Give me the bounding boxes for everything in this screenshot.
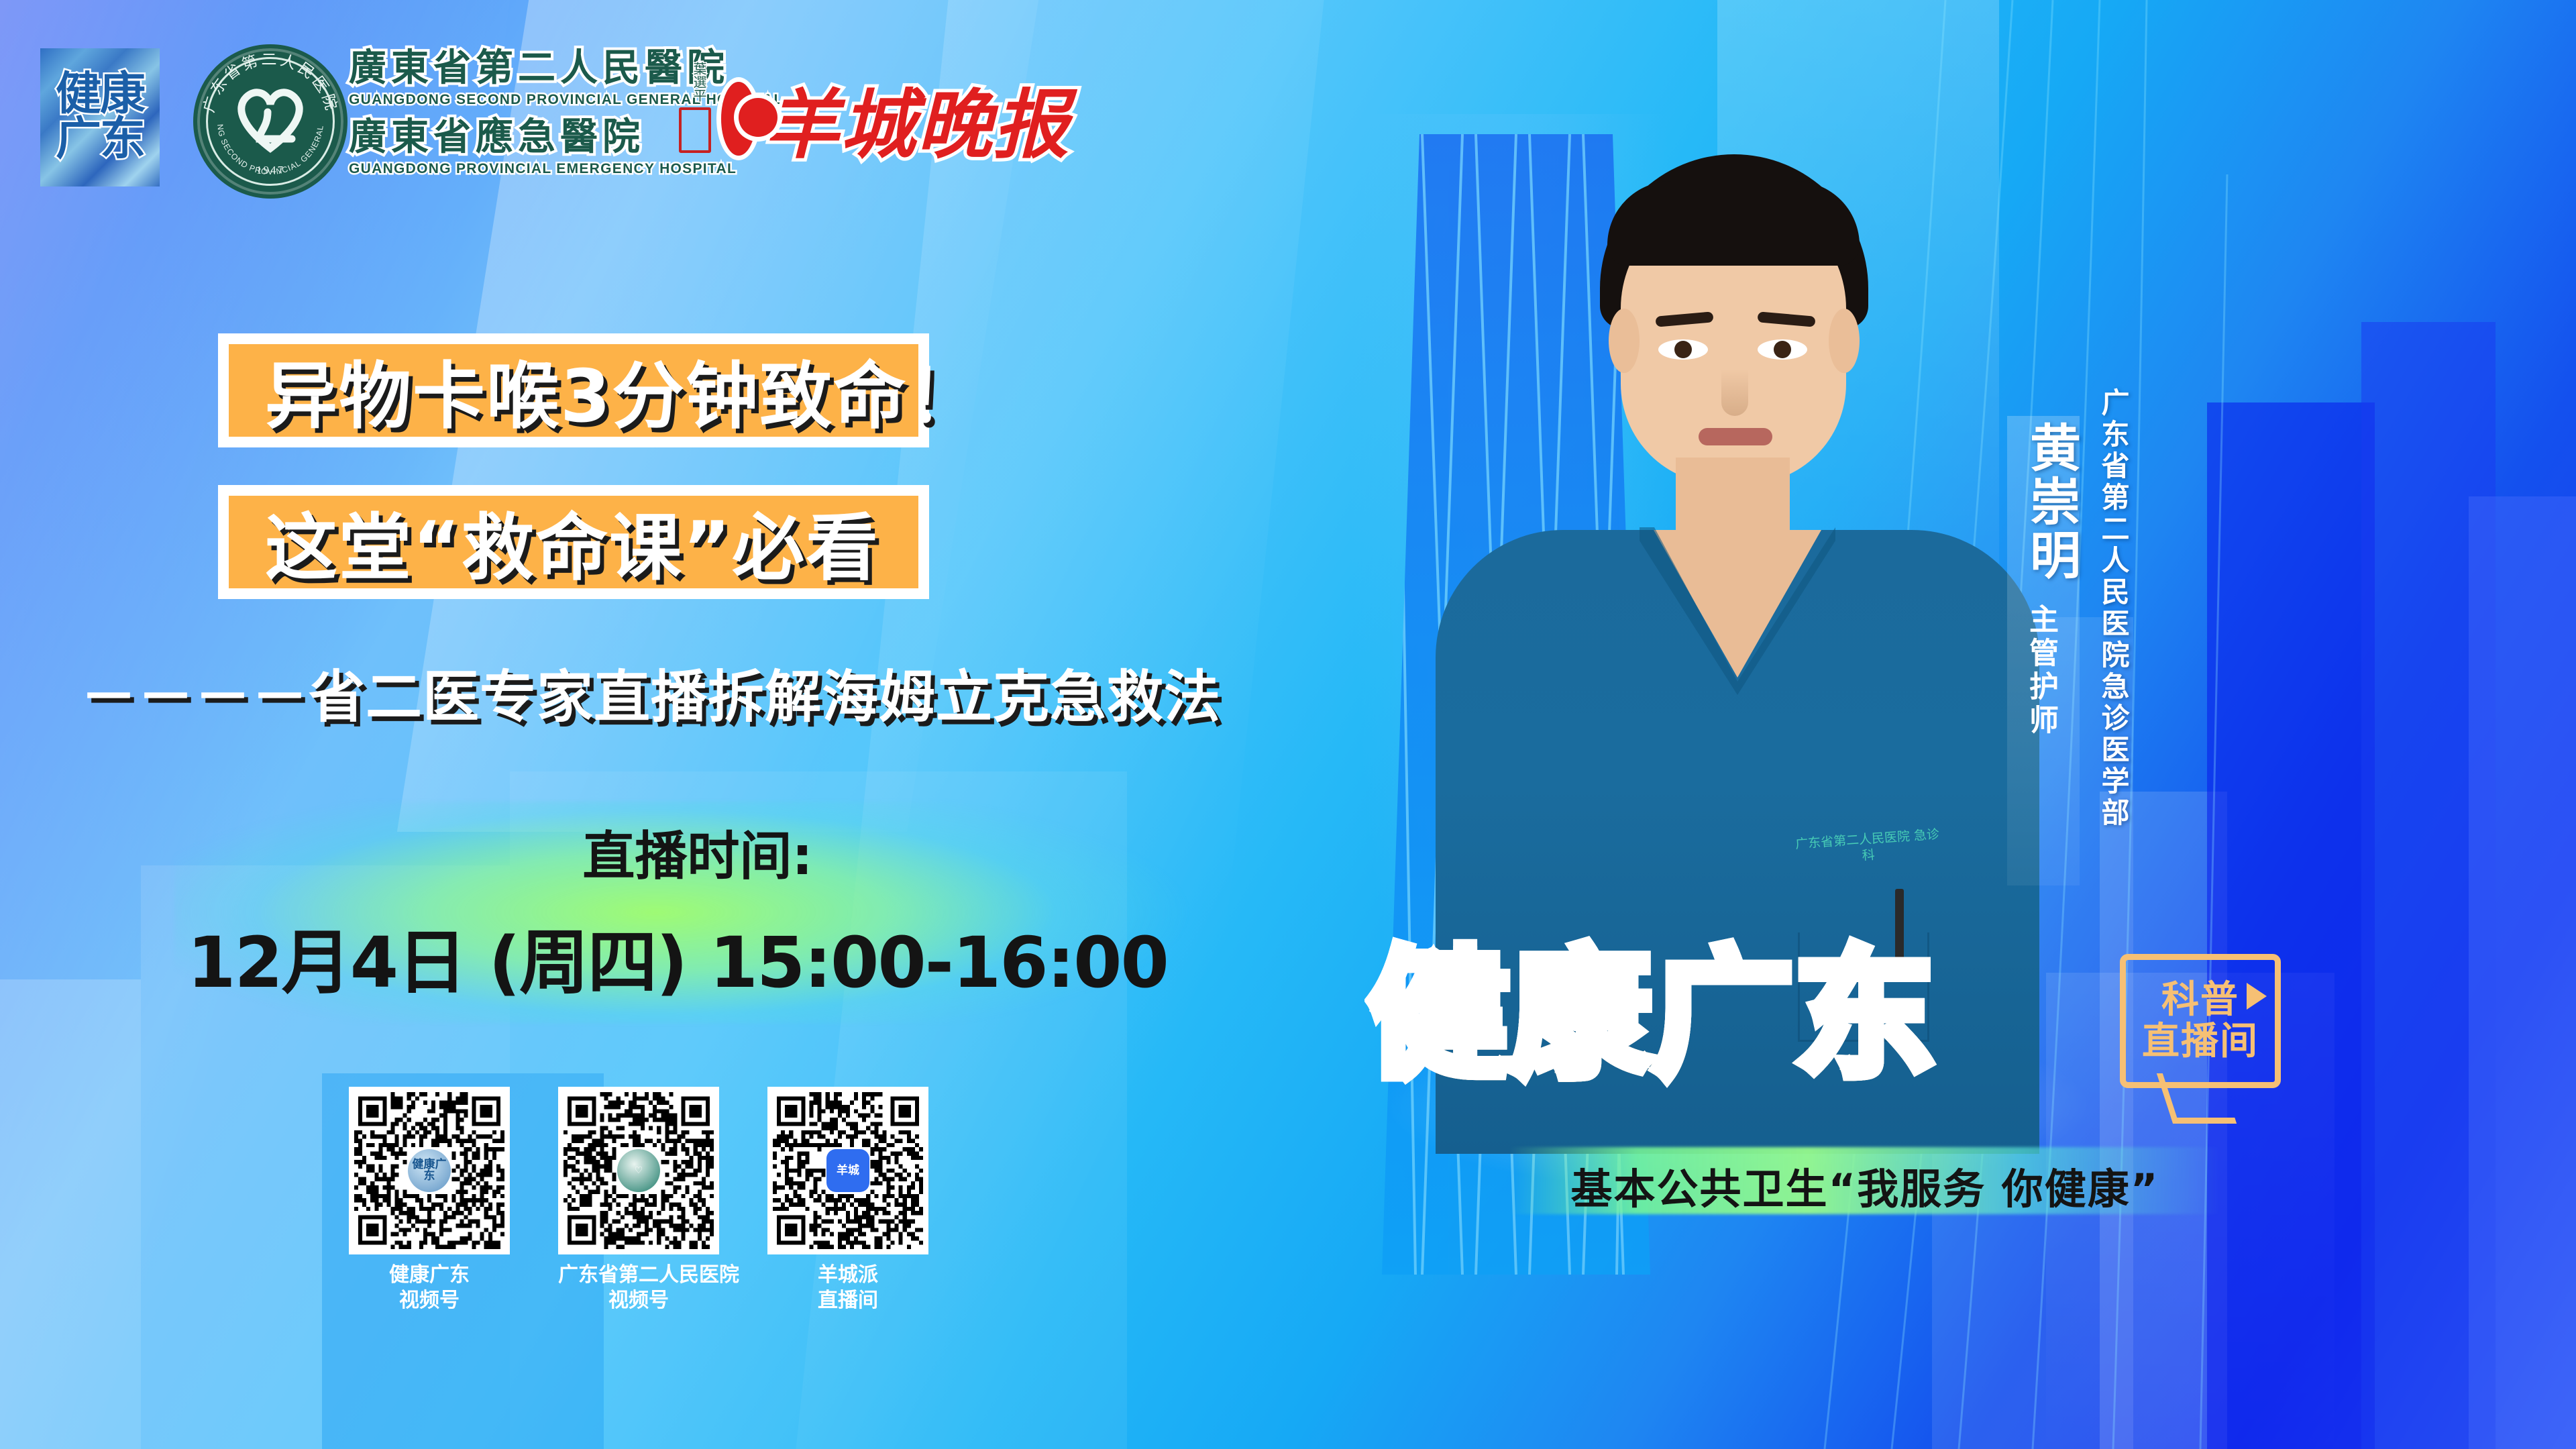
qr-cell-yangchengpai[interactable]: 羊城 羊城派 直播间: [767, 1087, 928, 1314]
bubble-line-2: 直播间: [2142, 1023, 2259, 1061]
header-logo-bar: 健康广东 广东省第二人民医院 GUANGDONG SECOND PROVINCI…: [0, 0, 2576, 201]
headline-box-1: 异物卡喉3分钟致命！: [218, 333, 929, 447]
schedule-time: 12月4日 (周四) 15:00-16:00: [154, 906, 1201, 1007]
doctor-ear-left: [1609, 309, 1640, 373]
hospital-name-en-1: GUANGDONG SECOND PROVINCIAL GENERAL HOSP…: [349, 92, 698, 108]
qr-label-1-line1: 健康广东: [349, 1263, 510, 1288]
logo-jiankang-guangdong: 健康广东: [40, 48, 160, 186]
qr-cell-hospital[interactable]: ♡ 广东省第二人民医院 视频号: [558, 1087, 719, 1314]
qr-code-icon-2[interactable]: ♡: [558, 1087, 719, 1254]
hospital-name-block: 廣東省第二人民醫院 GUANGDONG SECOND PROVINCIAL GE…: [349, 50, 698, 189]
qr-label-3-line1: 羊城派: [767, 1263, 928, 1288]
qr-badge-3: 羊城: [826, 1149, 869, 1192]
hospital-name-cn-1: 廣東省第二人民醫院: [349, 50, 698, 87]
qr-label-3-line2: 直播间: [767, 1288, 928, 1313]
doctor-eye-right: [1758, 339, 1807, 360]
speaker-title: 主管护师: [2019, 604, 2062, 738]
qr-label-1-line2: 视频号: [349, 1288, 510, 1313]
livestream-poster: 健康广东 广东省第二人民医院 GUANGDONG SECOND PROVINCI…: [0, 0, 2576, 1449]
headline-subtitle: －－－－省二医专家直播拆解海姆立克急救法: [80, 652, 1288, 733]
headline-box-2: 这堂“救命课”必看: [218, 485, 929, 599]
bubble-line-1: 科普: [2161, 981, 2239, 1019]
logo-yangcheng-evening-news: 羊城晚报: [721, 48, 1070, 189]
schedule-label: 直播时间:: [174, 814, 1221, 890]
headline-line-1: 异物卡喉3分钟致命！: [229, 338, 1017, 443]
qr-label-2-line2: 视频号: [558, 1288, 719, 1313]
doctor-nose: [1721, 369, 1748, 416]
yangcheng-mark-icon: [721, 82, 756, 156]
qr-label-1: 健康广东 视频号: [349, 1263, 510, 1314]
doctor-eye-left: [1658, 339, 1708, 360]
hospital-name-en-2: GUANGDONG PROVINCIAL EMERGENCY HOSPITAL: [349, 161, 698, 177]
doctor-fringe: [1607, 181, 1860, 266]
yangcheng-logo-text: 羊城晚报: [764, 64, 1070, 173]
skyline-block-1: [0, 979, 141, 1449]
qr-cell-jiankang-guangdong[interactable]: 健康广东 健康广东 视频号: [349, 1087, 510, 1314]
speaker-department: 广东省第二人民医院急诊医学部: [2093, 388, 2134, 829]
brand-lockup: 健康广东 健康广东 科普 直播间: [1355, 939, 2321, 1140]
headline-line-2: 这堂“救命课”必看: [229, 490, 916, 594]
play-icon: [2247, 983, 2267, 1010]
logo-jiankang-guangdong-text: 健康广东: [40, 72, 160, 162]
seal-year: 1947: [197, 164, 343, 177]
speaker-name: 黄崇明: [2014, 421, 2088, 582]
qr-badge-2: ♡: [617, 1149, 660, 1192]
qr-label-3: 羊城派 直播间: [767, 1263, 928, 1314]
qr-code-group: 健康广东 健康广东 视频号 ♡ 广东省第二人民医院 视频号 羊城 羊: [349, 1087, 928, 1314]
hospital-red-stamp-icon: [679, 107, 711, 153]
doctor-ear-right: [1829, 309, 1860, 373]
heart-icon: [230, 78, 311, 159]
hospital-name-cn-2: 廣東省應急醫院: [349, 119, 698, 156]
qr-badge-1: 健康广东: [408, 1149, 451, 1192]
hospital-seal-logo: 广东省第二人民医院 GUANGDONG SECOND PROVINCIAL GE…: [193, 44, 347, 199]
brand-name: 健康广东: [1368, 946, 1937, 1085]
doctor-uniform-embroidery: 广东省第二人民医院 急诊科: [1790, 826, 1949, 918]
qr-code-icon-1[interactable]: 健康广东: [349, 1087, 510, 1254]
hospital-signature: 葉選平: [671, 62, 708, 109]
qr-code-icon-3[interactable]: 羊城: [767, 1087, 928, 1254]
speech-bubble: 科普 直播间: [2120, 954, 2281, 1088]
qr-label-2-line1: 广东省第二人民医院: [558, 1263, 719, 1288]
doctor-mouth: [1699, 428, 1772, 445]
brand-slogan: 基本公共卫生“我服务 你健康”: [1509, 1155, 2220, 1216]
qr-label-2: 广东省第二人民医院 视频号: [558, 1263, 719, 1314]
